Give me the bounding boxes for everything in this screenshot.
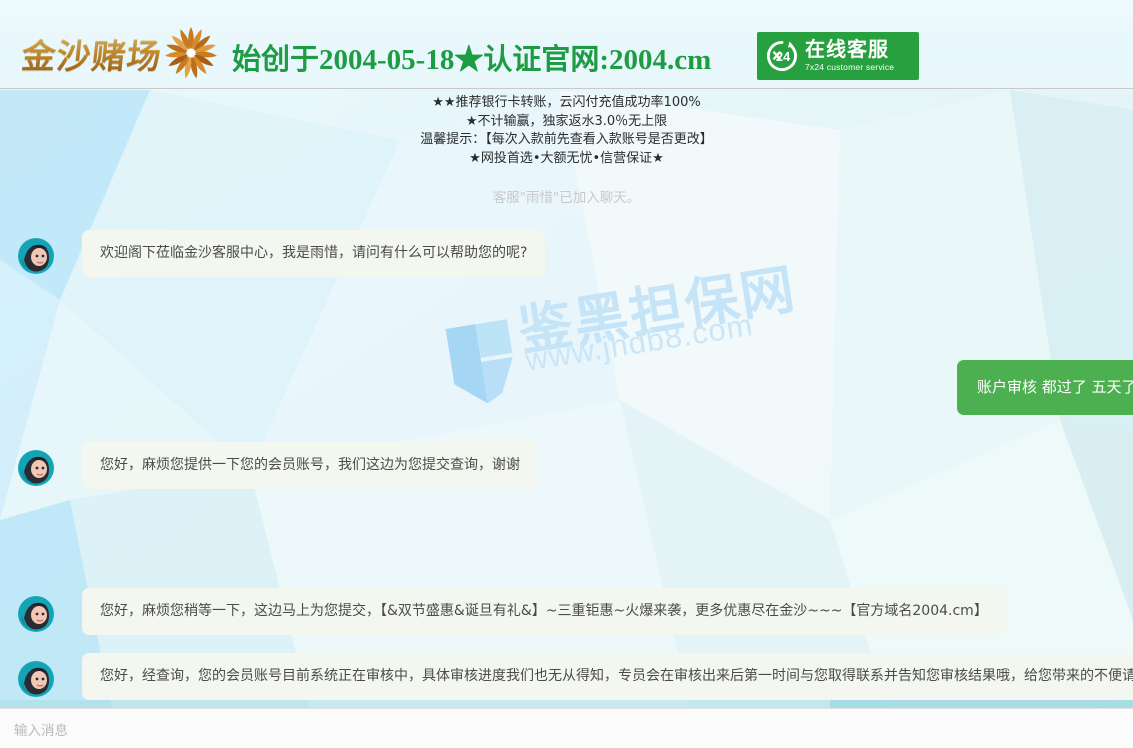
message-input-placeholder[interactable]: 输入消息: [14, 719, 68, 739]
chat-bubble-agent: 您好，经查询，您的会员账号目前系统正在审核中，具体审核进度我们也无从得知，专员会…: [82, 653, 1133, 700]
online-service-label-en: 7x24 customer service: [805, 63, 894, 72]
notice-line-2: ★不计输赢，独家返水3.0％无上限: [0, 113, 1133, 132]
notice-line-4: ★网投首选•大额无忧•信营保证★: [0, 150, 1133, 169]
online-service-button[interactable]: 24 在线客服 7x24 customer service: [757, 32, 919, 80]
chat-message: 您好，麻烦您稍等一下，这边马上为您提交，【&双节盛惠&诞旦有礼&】~三重钜惠~火…: [18, 588, 1006, 635]
banner-headline: 始创于2004-05-18★认证官网:2004.cm: [232, 36, 711, 78]
site-header: 金沙赌场: [0, 0, 1133, 89]
chat-bubble-agent: 您好，麻烦您提供一下您的会员账号，我们这边为您提交查询，谢谢: [82, 442, 538, 489]
message-input-bar[interactable]: 输入消息: [0, 708, 1133, 748]
chat-bubble-agent: 您好，麻烦您稍等一下，这边马上为您提交，【&双节盛惠&诞旦有礼&】~三重钜惠~火…: [82, 588, 1006, 635]
agent-avatar[interactable]: [18, 238, 54, 274]
agent-avatar[interactable]: [18, 596, 54, 632]
online-service-label-cn: 在线客服: [805, 40, 894, 60]
site-logo[interactable]: 金沙赌场: [22, 22, 222, 84]
chat-message: 账户审核 都过了 五天了 还: [957, 360, 1133, 415]
chat-message: 欢迎阁下莅临金沙客服中心，我是雨惜，请问有什么可以帮助您的呢?: [18, 230, 545, 277]
logo-text: 金沙赌场: [19, 29, 164, 78]
agent-avatar[interactable]: [18, 450, 54, 486]
notice-block: ★★推荐银行卡转账，云闪付充值成功率100% ★不计输赢，独家返水3.0％无上限…: [0, 94, 1133, 168]
chat-message: 您好，麻烦您提供一下您的会员账号，我们这边为您提交查询，谢谢: [18, 442, 538, 489]
chat-bubble-mine: 账户审核 都过了 五天了 还: [957, 360, 1133, 415]
notice-line-1: ★★推荐银行卡转账，云闪付充值成功率100%: [0, 94, 1133, 113]
agent-avatar[interactable]: [18, 661, 54, 697]
sunburst-icon: [160, 22, 222, 84]
chat-message-list: 欢迎阁下莅临金沙客服中心，我是雨惜，请问有什么可以帮助您的呢? 账户审核 都过了…: [0, 210, 1133, 710]
system-join-message: 客服"雨惜"已加入聊天。: [0, 186, 1133, 206]
notice-line-3: 温馨提示：【每次入款前先查看入款账号是否更改】: [0, 131, 1133, 150]
chat-message: 您好，经查询，您的会员账号目前系统正在审核中，具体审核进度我们也无从得知，专员会…: [18, 653, 1133, 700]
customer-service-24-icon: 24: [765, 39, 799, 73]
chat-bubble-agent: 欢迎阁下莅临金沙客服中心，我是雨惜，请问有什么可以帮助您的呢?: [82, 230, 545, 277]
